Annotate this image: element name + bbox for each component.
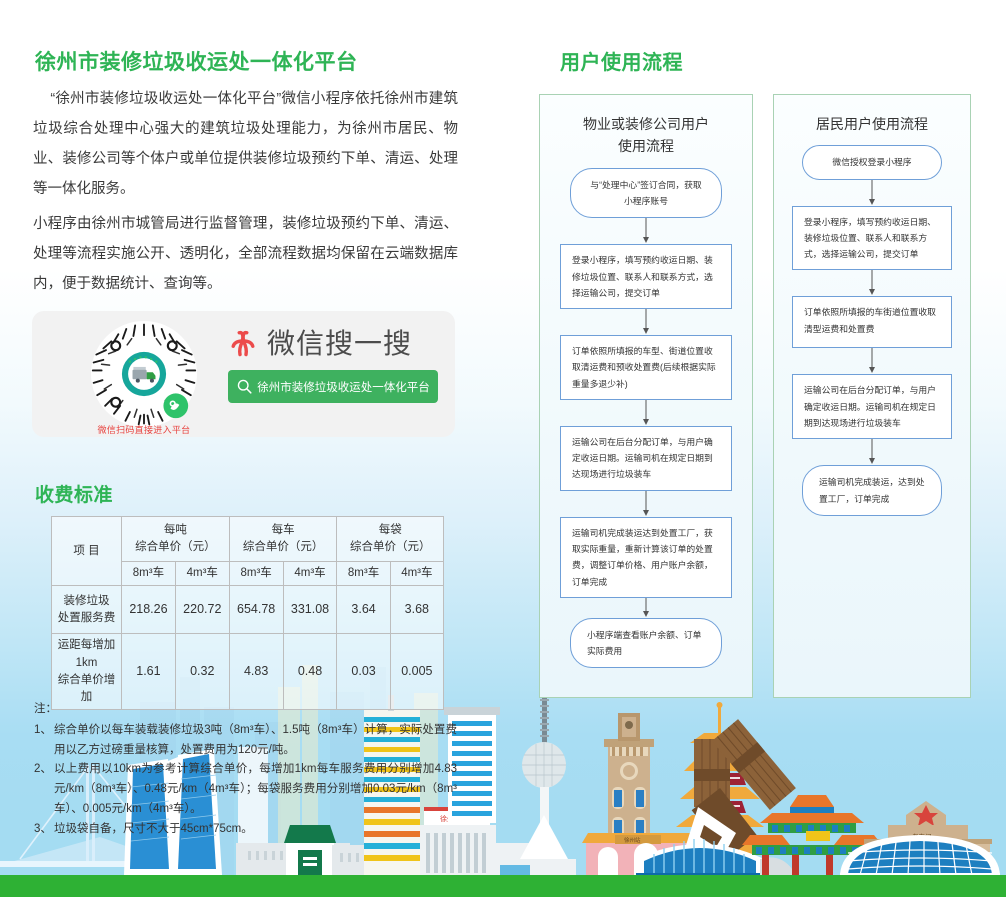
qr-code-block: 微信扫码直接进入平台	[85, 321, 203, 436]
poster-page: 徐州	[0, 0, 1006, 897]
flow-arrow	[866, 348, 878, 374]
table-header-item: 项 目	[52, 517, 122, 586]
notes-heading: 注：	[34, 700, 457, 720]
wechat-search-block: 微信搜一搜 徐州市装修垃圾收运处一体化平台	[228, 329, 438, 403]
wechat-search-logo-icon	[228, 329, 258, 359]
cell-value: 0.32	[175, 634, 229, 710]
flow-node-process[interactable]: 登录小程序，填写预约收运日期、装修垃圾位置、联系人和联系方式，选择运输公司，提交…	[560, 244, 732, 309]
flow-panel-company: 物业或装修公司用户 使用流程 与“处理中心”签订合同，获取小程序账号 登录小程序…	[539, 94, 753, 698]
fee-standard-title: 收费标准	[35, 480, 113, 507]
note-text: 以上费用以10km为参考计算综合单价，每增加1km每车服务费用分别增加4.83元…	[54, 760, 457, 819]
intro-text-block: “徐州市装修垃圾收运处一体化平台”微信小程序依托徐州市建筑垃圾综合处理中心强大的…	[33, 84, 458, 299]
flow-node-process[interactable]: 运输公司在后台分配订单，与用户确定收运日期。运输司机在规定日期到达现场进行垃圾装…	[792, 374, 952, 439]
flow-arrow	[640, 491, 652, 517]
flow-arrow	[866, 180, 878, 206]
flow-arrow	[866, 270, 878, 296]
cell-value: 3.64	[337, 586, 390, 634]
table-subheader: 4m³车	[390, 562, 443, 586]
flow-arrow	[640, 218, 652, 244]
page-title: 徐州市装修垃圾收运处一体化平台	[35, 46, 358, 76]
wechat-search-button[interactable]: 徐州市装修垃圾收运处一体化平台	[228, 370, 438, 403]
flow-resident-steps: 微信授权登录小程序 登录小程序，填写预约收运日期、装修垃圾位置、联系人和联系方式…	[774, 145, 970, 515]
note-number: 3、	[34, 820, 54, 840]
table-header-group-per-vehicle: 每车 综合单价（元）	[229, 517, 337, 562]
flow-node-process[interactable]: 订单依照所填报的车型、街道位置收取清运费和预收处置费(后续根据实际重量多退少补)	[560, 335, 732, 400]
flow-panel-resident-title: 居民用户使用流程	[774, 113, 970, 135]
row-label: 运距每增加1km 综合单价增加	[52, 634, 122, 710]
intro-paragraph-1: “徐州市装修垃圾收运处一体化平台”微信小程序依托徐州市建筑垃圾综合处理中心强大的…	[33, 84, 458, 205]
fee-notes: 注： 1、 综合单价以每车装载装修垃圾3吨（8m³车）、1.5吨（8m³车）计算…	[34, 700, 457, 839]
qr-caption: 微信扫码直接进入平台	[85, 423, 203, 436]
cell-value: 0.03	[337, 634, 390, 710]
cell-value: 0.48	[283, 634, 337, 710]
flow-panel-resident: 居民用户使用流程 微信授权登录小程序 登录小程序，填写预约收运日期、装修垃圾位置…	[773, 94, 971, 698]
cell-value: 331.08	[283, 586, 337, 634]
note-text: 垃圾袋自备，尺寸不大于45cm*75cm。	[54, 820, 457, 840]
table-row: 装修垃圾 处置服务费 218.26 220.72 654.78 331.08 3…	[52, 586, 444, 634]
wechat-search-wordmark: 微信搜一搜	[267, 330, 412, 358]
flow-arrow	[640, 400, 652, 426]
flow-node-process[interactable]: 运输公司在后台分配订单，与用户确定收运日期。运输司机在规定日期到达现场进行垃圾装…	[560, 426, 732, 491]
note-item: 3、 垃圾袋自备，尺寸不大于45cm*75cm。	[34, 820, 457, 840]
table-subheader: 8m³车	[229, 562, 283, 586]
table-header-group-per-bag: 每袋 综合单价（元）	[337, 517, 444, 562]
flow-node-terminator-start[interactable]: 微信授权登录小程序	[802, 145, 942, 179]
note-item: 2、 以上费用以10km为参考计算综合单价，每增加1km每车服务费用分别增加4.…	[34, 760, 457, 819]
flow-arrow	[640, 309, 652, 335]
flow-node-terminator-end[interactable]: 小程序端查看账户余额、订单实际费用	[570, 618, 722, 669]
table-subheader: 8m³车	[337, 562, 390, 586]
cell-value: 218.26	[122, 586, 176, 634]
cell-value: 4.83	[229, 634, 283, 710]
wechat-miniprogram-qr-code[interactable]	[91, 321, 197, 427]
note-text: 综合单价以每车装载装修垃圾3吨（8m³车）、1.5吨（8m³车）计算，实际处置费…	[54, 721, 457, 761]
magnifier-icon	[236, 378, 253, 395]
left-column: 徐州市装修垃圾收运处一体化平台 “徐州市装修垃圾收运处一体化平台”微信小程序依托…	[0, 0, 503, 897]
flow-arrow	[640, 598, 652, 618]
intro-paragraph-2: 小程序由徐州市城管局进行监督管理，装修垃圾预约下单、清运、处理等流程实施公开、透…	[33, 209, 458, 299]
flow-panel-company-title: 物业或装修公司用户 使用流程	[540, 113, 752, 158]
right-column: 用户使用流程 物业或装修公司用户 使用流程 与“处理中心”签订合同，获取小程序账…	[503, 0, 1006, 897]
table-subheader: 4m³车	[175, 562, 229, 586]
flow-node-process[interactable]: 运输司机完成装运达到处置工厂，获取实际重量，重新计算该订单的处置费，调整订单价格…	[560, 517, 732, 598]
cell-value: 0.005	[390, 634, 443, 710]
cell-value: 3.68	[390, 586, 443, 634]
cell-value: 1.61	[122, 634, 176, 710]
wechat-search-button-label: 徐州市装修垃圾收运处一体化平台	[257, 379, 430, 395]
cell-value: 220.72	[175, 586, 229, 634]
flow-node-terminator-start[interactable]: 与“处理中心”签订合同，获取小程序账号	[570, 168, 722, 219]
table-subheader: 4m³车	[283, 562, 337, 586]
flow-node-process[interactable]: 登录小程序，填写预约收运日期、装修垃圾位置、联系人和联系方式，选择运输公司，提交…	[792, 206, 952, 271]
flow-arrow	[866, 439, 878, 465]
table-subheader: 8m³车	[122, 562, 176, 586]
flow-node-terminator-end[interactable]: 运输司机完成装运，达到处置工厂，订单完成	[802, 465, 942, 516]
note-number: 1、	[34, 721, 54, 741]
wechat-entry-panel: 微信扫码直接进入平台	[32, 311, 455, 437]
flow-section-title: 用户使用流程	[560, 46, 683, 75]
cell-value: 654.78	[229, 586, 283, 634]
flow-node-process[interactable]: 订单依照所填报的车街道位置收取清型运费和处置费	[792, 296, 952, 348]
wechat-search-header: 微信搜一搜	[228, 329, 438, 359]
fee-standard-table: 项 目 每吨 综合单价（元） 每车 综合单价（元） 每袋 综合单价（元）	[51, 516, 444, 710]
flow-company-steps: 与“处理中心”签订合同，获取小程序账号 登录小程序，填写预约收运日期、装修垃圾位…	[540, 168, 752, 669]
table-row: 运距每增加1km 综合单价增加 1.61 0.32 4.83 0.48 0.03…	[52, 634, 444, 710]
table-header-group-per-ton: 每吨 综合单价（元）	[122, 517, 230, 562]
row-label: 装修垃圾 处置服务费	[52, 586, 122, 634]
note-item: 1、 综合单价以每车装载装修垃圾3吨（8m³车）、1.5吨（8m³车）计算，实际…	[34, 721, 457, 761]
note-number: 2、	[34, 760, 54, 780]
